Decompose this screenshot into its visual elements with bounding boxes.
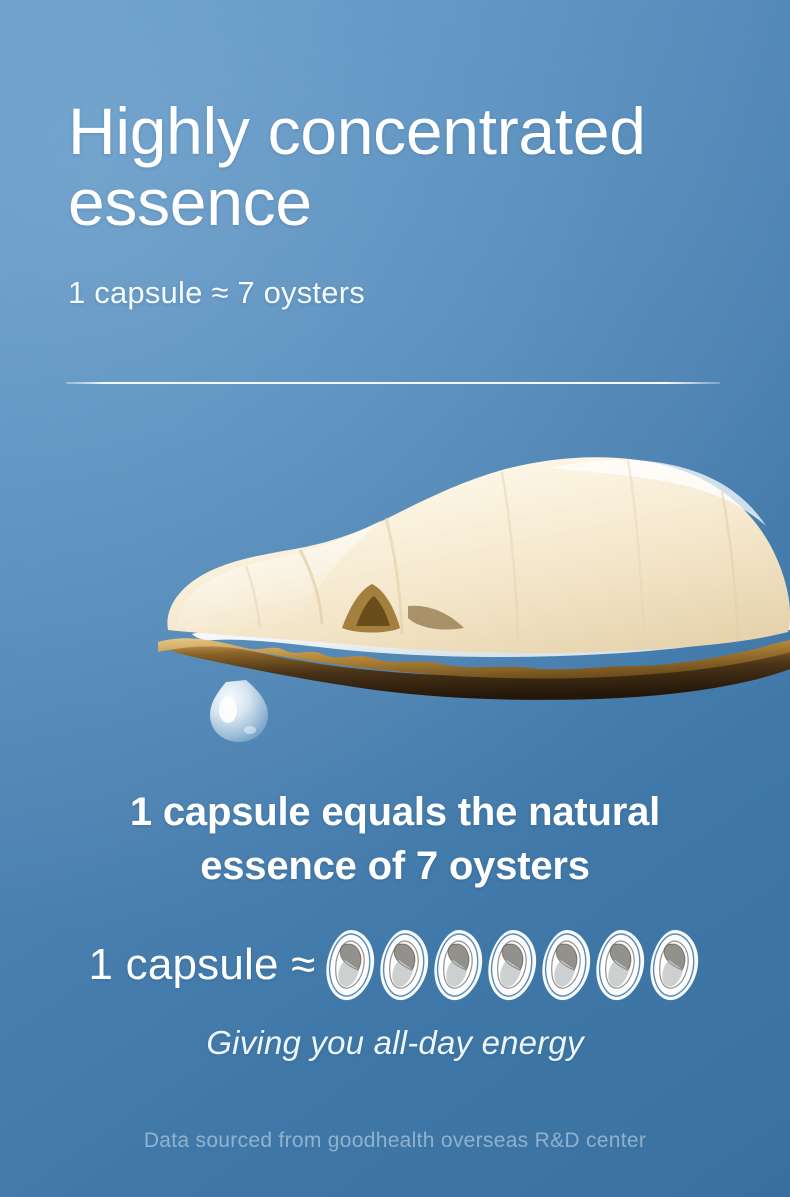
oyster-shell-icon — [431, 927, 487, 1003]
header-divider — [66, 382, 720, 384]
oyster-shell-icon — [377, 927, 433, 1003]
page-title: Highly concentrated essence — [68, 96, 748, 239]
oyster-shell-icon — [593, 927, 649, 1003]
equation-row: 1 capsule ≈ — [0, 927, 790, 1003]
oyster-shell-icon — [539, 927, 595, 1003]
equation-left-text: 1 capsule ≈ — [89, 940, 316, 990]
source-note: Data sourced from goodhealth overseas R&… — [0, 1129, 790, 1153]
oyster-shell-icon — [647, 927, 703, 1003]
claim-headline: 1 capsule equals the natural essence of … — [0, 786, 790, 893]
oyster-shell-icon — [485, 927, 541, 1003]
product-promo-poster: Highly concentrated essence 1 capsule ≈ … — [0, 0, 790, 1197]
oyster-icon-group — [323, 927, 701, 1003]
header-subtitle: 1 capsule ≈ 7 oysters — [68, 275, 748, 311]
water-droplet — [210, 680, 268, 742]
tagline: Giving you all-day energy — [0, 1024, 790, 1062]
oyster-on-half-shell-photo — [150, 438, 790, 748]
oyster-shell-icon — [323, 927, 379, 1003]
header-block: Highly concentrated essence 1 capsule ≈ … — [68, 96, 748, 311]
